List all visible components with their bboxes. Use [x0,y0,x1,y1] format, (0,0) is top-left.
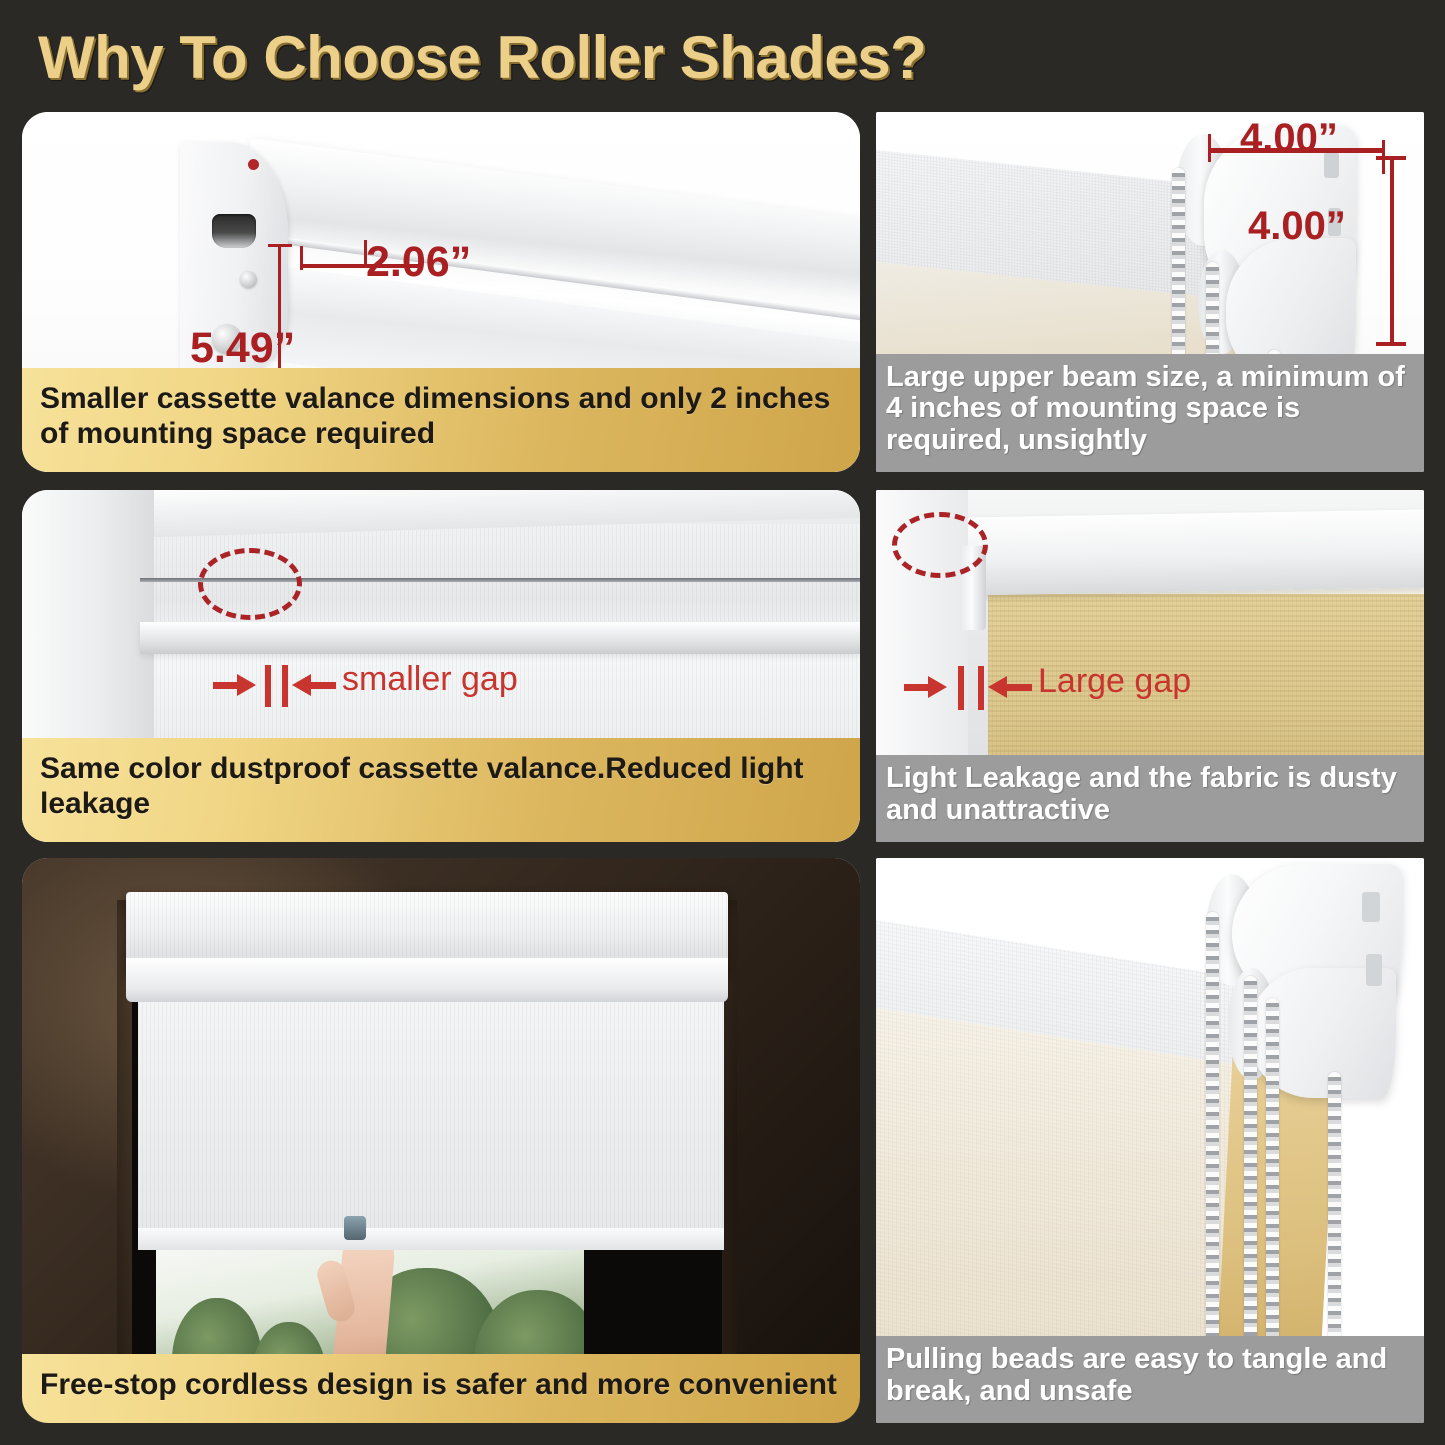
width-dimension-tick-left [300,246,303,270]
gap-label: Large gap [1038,662,1191,701]
bead-chain [1266,998,1279,1362]
panel-smaller-cassette: 5.49” 2.06” Smaller cassette valance dim… [22,112,860,472]
gap-tick-left [958,666,964,710]
shade-hem-bar [138,1228,724,1250]
gap-arrow-left-icon [988,676,1007,698]
panel-large-upper-beam: 4.00” 4.00” Large upper beam size, a min… [876,112,1424,472]
panel-5-artwork [22,858,860,1423]
gap-arrow-left-icon [292,674,311,696]
bracket-notch [1366,954,1382,986]
bead-chain [1206,912,1219,1362]
measure-point-dot [248,159,259,170]
panel-1-caption: Smaller cassette valance dimensions and … [22,368,860,472]
panel-pulling-beads: Pulling beads are easy to tangle and bre… [876,858,1424,1423]
gap-label: smaller gap [342,660,518,699]
height-dimension-tick-top [268,244,292,247]
valance-rail [140,622,860,654]
shade-pull-grip [344,1216,366,1240]
width-dimension-label: 4.00” [1240,116,1338,161]
gap-arrow-tail-left [213,682,239,689]
height-dimension-label: 5.49” [190,324,295,373]
panel-cordless-design: Free-stop cordless design is safer and m… [22,858,860,1423]
panel-5-caption: Free-stop cordless design is safer and m… [22,1354,860,1423]
gap-arrow-tail-left [904,684,930,691]
height-dimension-tick-bottom [1376,342,1406,346]
page-title: Why To Choose Roller Shades? [38,22,1238,94]
upper-beam [936,509,1424,596]
panel-large-gap: Large gap Light Leakage and the fabric i… [876,490,1424,842]
width-dimension-tick-left [1208,134,1211,162]
valance-slot [212,214,256,248]
cassette-valance-lower [126,958,728,1002]
shade-fabric [138,1000,724,1240]
panel-6-caption: Pulling beads are easy to tangle and bre… [876,1336,1424,1423]
height-dimension-tick-top [1376,156,1406,160]
bracket-notch [1362,892,1380,922]
height-dimension-line [1390,156,1394,346]
gap-arrow-right-icon [237,674,256,696]
gap-arrow-right-icon [928,676,947,698]
gap-arrow-tail-right [1006,684,1032,691]
bead-chain [1244,976,1257,1362]
gap-tick-right [282,665,288,707]
infographic-page: Why To Choose Roller Shades? 5.49” 2 [0,0,1445,1445]
gap-tick-left [265,665,271,707]
gap-arrow-tail-right [310,682,336,689]
width-dimension-label: 2.06” [366,238,471,287]
height-dimension-label: 4.00” [1248,204,1346,249]
panel-2-caption: Large upper beam size, a minimum of 4 in… [876,354,1424,472]
panel-3-caption: Same color dustproof cassette valance.Re… [22,738,860,842]
bead-chain [1328,1072,1341,1360]
highlight-ellipse-icon [892,512,988,578]
panel-smaller-gap: smaller gap Same color dustproof cassett… [22,490,860,842]
highlight-ellipse-icon [198,548,302,620]
screw-icon [240,271,257,288]
gap-tick-right [978,666,984,710]
panel-4-caption: Light Leakage and the fabric is dusty an… [876,755,1424,842]
